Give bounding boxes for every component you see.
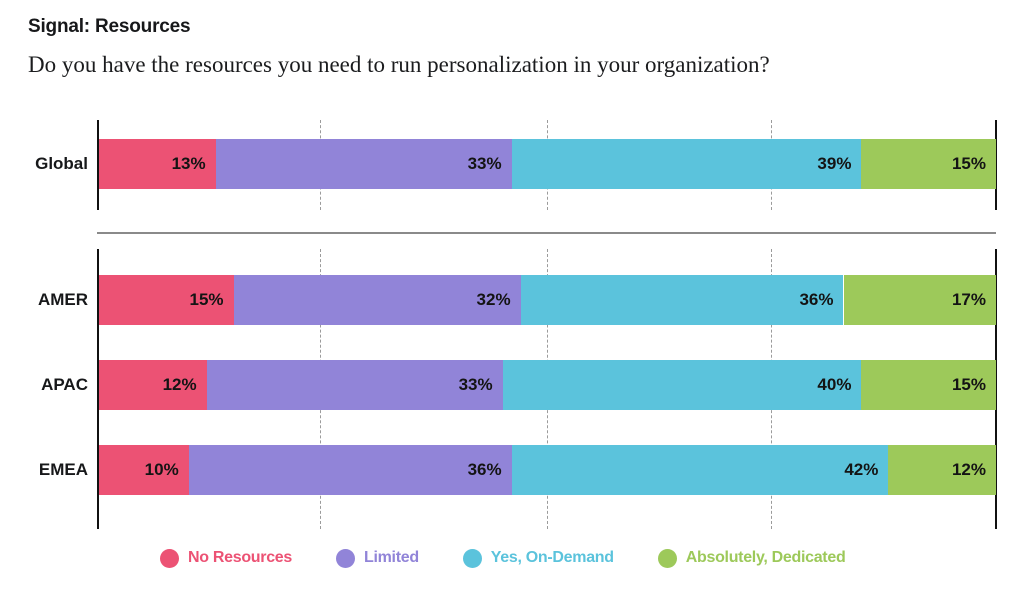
group-divider [97,232,996,234]
chart-panel-regions: AMER15%32%36%17%APAC12%33%40%15%EMEA10%3… [0,249,1024,529]
legend-dot-icon [160,549,179,568]
page-title: Signal: Resources [28,16,190,38]
bar-track: 13%33%39%15% [99,139,996,189]
bar-segment-value: 15% [952,360,986,410]
chart-panel-global: Global13%33%39%15% [0,120,1024,210]
bar-segment-value: 36% [799,275,833,325]
bar-row: Global13%33%39%15% [0,139,1024,189]
bar-segment-value: 39% [817,139,851,189]
bar-track: 12%33%40%15% [99,360,996,410]
bar-segment[interactable]: 10% [99,445,189,495]
bar-segment-value: 40% [817,360,851,410]
bar-segment-value: 42% [844,445,878,495]
bar-row: AMER15%32%36%17% [0,275,1024,325]
legend-dot-icon [658,549,677,568]
legend-item[interactable]: Limited [336,549,419,568]
bar-row-label: EMEA [0,445,88,495]
bar-segment[interactable]: 15% [99,275,234,325]
bar-segment[interactable]: 17% [844,275,996,325]
legend-item-label: Limited [364,549,419,567]
bar-segment-value: 10% [145,445,179,495]
bar-segment[interactable]: 13% [99,139,216,189]
bar-segment[interactable]: 15% [861,360,996,410]
bar-segment[interactable]: 12% [888,445,996,495]
bar-track: 10%36%42%12% [99,445,996,495]
bar-segment[interactable]: 36% [521,275,844,325]
bar-row-label: Global [0,139,88,189]
bar-segment-value: 32% [477,275,511,325]
chart-subtitle: Do you have the resources you need to ru… [28,52,770,78]
bar-row: EMEA10%36%42%12% [0,445,1024,495]
bar-segment[interactable]: 42% [512,445,889,495]
bar-segment-value: 15% [952,139,986,189]
legend-item[interactable]: Absolutely, Dedicated [658,549,846,568]
bar-row-label: APAC [0,360,88,410]
bar-segment-value: 15% [190,275,224,325]
bar-row: APAC12%33%40%15% [0,360,1024,410]
legend-item-label: Yes, On-Demand [491,549,614,567]
bar-segment[interactable]: 32% [234,275,521,325]
bar-segment-value: 36% [468,445,502,495]
legend-dot-icon [336,549,355,568]
bar-segment-value: 33% [468,139,502,189]
bar-track: 15%32%36%17% [99,275,996,325]
legend-dot-icon [463,549,482,568]
bar-segment[interactable]: 40% [503,360,862,410]
bar-segment-value: 12% [952,445,986,495]
chart-legend: No ResourcesLimitedYes, On-DemandAbsolut… [160,543,889,573]
bar-segment[interactable]: 12% [99,360,207,410]
bar-segment[interactable]: 33% [216,139,512,189]
bar-segment[interactable]: 36% [189,445,512,495]
bar-segment[interactable]: 33% [207,360,503,410]
legend-item[interactable]: Yes, On-Demand [463,549,614,568]
bar-segment-value: 13% [172,139,206,189]
bar-segment-value: 17% [952,275,986,325]
bar-segment-value: 33% [459,360,493,410]
bar-segment-value: 12% [163,360,197,410]
bar-segment[interactable]: 39% [512,139,862,189]
legend-item[interactable]: No Resources [160,549,292,568]
bar-segment[interactable]: 15% [861,139,996,189]
legend-item-label: Absolutely, Dedicated [686,549,846,567]
legend-item-label: No Resources [188,549,292,567]
bar-row-label: AMER [0,275,88,325]
